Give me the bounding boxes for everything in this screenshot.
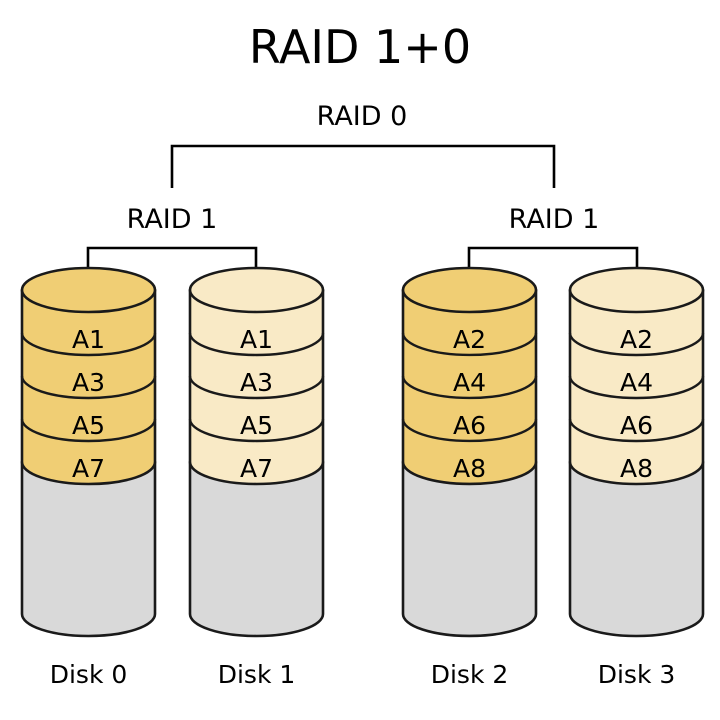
disk-2-block-0: A2 <box>453 325 486 354</box>
disk-1-block-3: A7 <box>240 454 273 483</box>
disk-1-top-cap <box>190 268 323 312</box>
disk-2-free-space <box>403 462 536 636</box>
raid-diagram-canvas: RAID 1+0 RAID 0 RAID 1 RAID 1 A1 A3 A5 <box>0 0 720 720</box>
disk-0-block-0: A1 <box>72 325 105 354</box>
diagram-title: RAID 1+0 <box>249 20 471 74</box>
disk-1-free-space <box>190 462 323 636</box>
disk-0-block-1: A3 <box>72 368 105 397</box>
disk-cylinder-1[interactable]: A1 A3 A5 A7 <box>190 268 323 636</box>
disk-0-block-3: A7 <box>72 454 105 483</box>
raid1-right-group-label: RAID 1 <box>509 204 600 235</box>
disk-0-top-cap <box>22 268 155 312</box>
disk-3-block-3: A8 <box>620 454 653 483</box>
disk-3-block-1: A4 <box>620 368 653 397</box>
disk-3-free-space <box>570 462 703 636</box>
disk-3-name-label: Disk 3 <box>598 660 676 689</box>
disk-3-top-cap <box>570 268 703 312</box>
disk-cylinder-3[interactable]: A2 A4 A6 A8 <box>570 268 703 636</box>
disk-cylinder-0[interactable]: A1 A3 A5 A7 <box>22 268 155 636</box>
disk-2-block-1: A4 <box>453 368 486 397</box>
raid-1-0-diagram: RAID 1+0 RAID 0 RAID 1 RAID 1 A1 A3 A5 <box>0 0 720 720</box>
disk-cylinder-2[interactable]: A2 A4 A6 A8 <box>403 268 536 636</box>
disk-3-block-2: A6 <box>620 411 653 440</box>
disk-2-block-3: A8 <box>453 454 486 483</box>
disk-1-name-label: Disk 1 <box>218 660 296 689</box>
disk-1-block-0: A1 <box>240 325 273 354</box>
disk-2-block-2: A6 <box>453 411 486 440</box>
disk-3-block-0: A2 <box>620 325 653 354</box>
disk-1-block-2: A5 <box>240 411 273 440</box>
disk-0-free-space <box>22 462 155 636</box>
disk-2-top-cap <box>403 268 536 312</box>
disk-2-name-label: Disk 2 <box>431 660 509 689</box>
disk-0-block-2: A5 <box>72 411 105 440</box>
raid0-bracket <box>172 146 554 188</box>
disk-0-name-label: Disk 0 <box>50 660 128 689</box>
raid0-group-label: RAID 0 <box>317 101 408 132</box>
raid1-left-group-label: RAID 1 <box>127 204 218 235</box>
disk-1-block-1: A3 <box>240 368 273 397</box>
